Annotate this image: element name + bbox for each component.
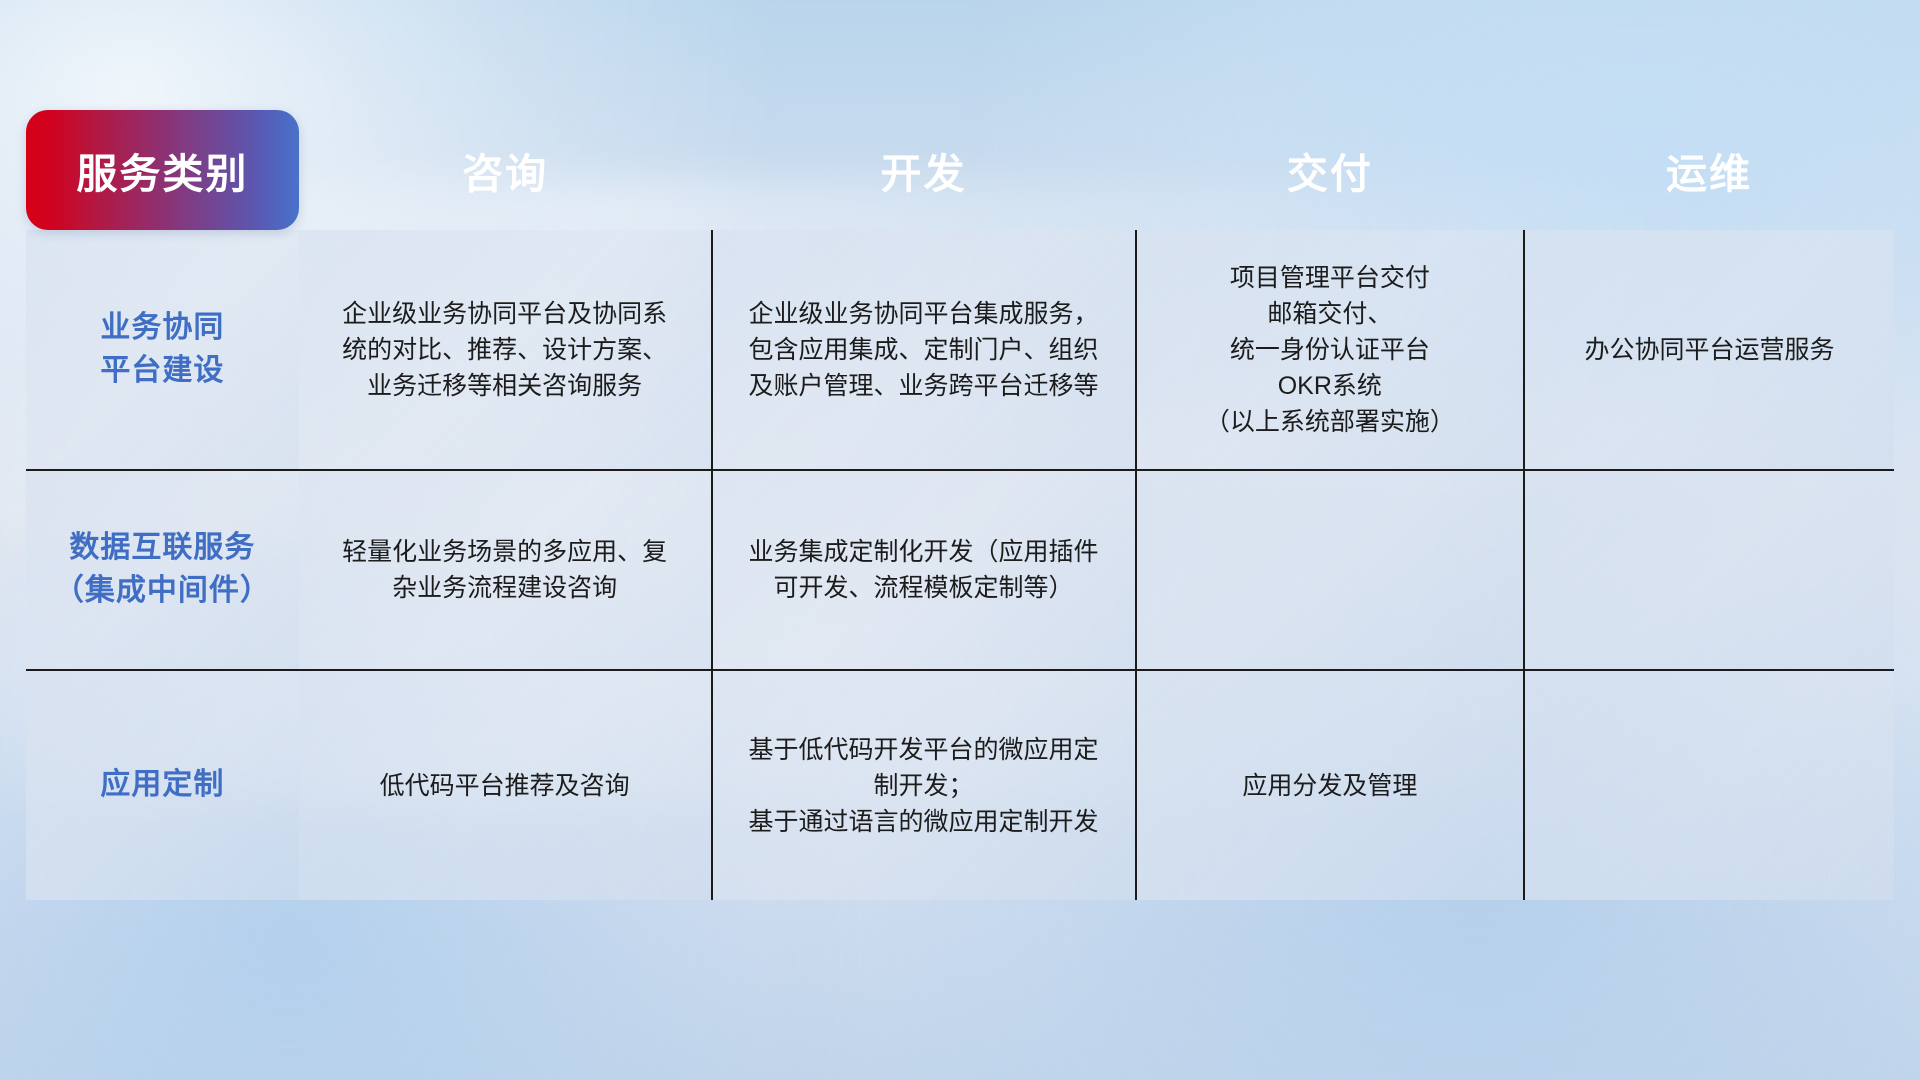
- cell-consulting: 企业级业务协同平台及协同系统的对比、推荐、设计方案、业务迁移等相关咨询服务: [299, 230, 712, 470]
- cell-text-line: 邮箱交付、: [1151, 296, 1510, 332]
- cell-text-line: （集成中间件）: [40, 570, 285, 613]
- cell-text-line: 低代码平台推荐及咨询: [313, 768, 697, 804]
- cell-text-line: 数据互联服务: [40, 527, 285, 570]
- cell-text-line: 应用定制: [40, 764, 285, 807]
- cell-text-line: OKR系统: [1151, 368, 1510, 404]
- cell-text-line: 及账户管理、业务跨平台迁移等: [727, 368, 1121, 404]
- cell-text-line: 轻量化业务场景的多应用、复: [313, 534, 697, 570]
- cell-text-line: 统一身份认证平台: [1151, 332, 1510, 368]
- column-header-category-label: 服务类别: [26, 140, 299, 200]
- column-header-operations-label: 运维: [1524, 140, 1894, 200]
- service-matrix-table: 服务类别 咨询 开发 交付 运维 业务协同平台建设 企业级业务协: [26, 110, 1894, 960]
- cell-text-line: 企业级业务协同平台集成服务，: [727, 296, 1121, 332]
- cell-text-line: 平台建设: [40, 350, 285, 393]
- cell-consulting: 轻量化业务场景的多应用、复杂业务流程建设咨询: [299, 470, 712, 670]
- column-header-category: 服务类别: [26, 110, 299, 230]
- service-table: 服务类别 咨询 开发 交付 运维 业务协同平台建设 企业级业务协: [26, 110, 1894, 900]
- header-row: 服务类别 咨询 开发 交付 运维: [26, 110, 1894, 230]
- row-category-label: 应用定制: [26, 670, 299, 900]
- column-header-operations: 运维: [1524, 110, 1894, 230]
- cell-text-line: 制开发；: [727, 768, 1121, 804]
- cell-consulting: 低代码平台推荐及咨询: [299, 670, 712, 900]
- cell-development: 业务集成定制化开发（应用插件可开发、流程模板定制等）: [712, 470, 1136, 670]
- cell-development: 基于低代码开发平台的微应用定制开发；基于通过语言的微应用定制开发: [712, 670, 1136, 900]
- cell-delivery: 应用分发及管理: [1136, 670, 1525, 900]
- cell-text-line: 包含应用集成、定制门户、组织: [727, 332, 1121, 368]
- table-row: 业务协同平台建设 企业级业务协同平台及协同系统的对比、推荐、设计方案、业务迁移等…: [26, 230, 1894, 470]
- cell-operations: [1524, 470, 1894, 670]
- cell-text-line: 办公协同平台运营服务: [1539, 332, 1880, 368]
- table-header: 服务类别 咨询 开发 交付 运维: [26, 110, 1894, 230]
- cell-text-line: 基于通过语言的微应用定制开发: [727, 804, 1121, 840]
- cell-text-line: 基于低代码开发平台的微应用定: [727, 732, 1121, 768]
- cell-text-line: 应用分发及管理: [1151, 768, 1510, 804]
- table-body: 业务协同平台建设 企业级业务协同平台及协同系统的对比、推荐、设计方案、业务迁移等…: [26, 230, 1894, 900]
- cell-delivery: [1136, 470, 1525, 670]
- column-header-delivery-label: 交付: [1136, 140, 1525, 200]
- row-category-label: 数据互联服务（集成中间件）: [26, 470, 299, 670]
- cell-text-line: 业务迁移等相关咨询服务: [313, 368, 697, 404]
- column-header-consulting: 咨询: [299, 110, 712, 230]
- cell-text-line: 可开发、流程模板定制等）: [727, 570, 1121, 606]
- cell-text-line: 企业级业务协同平台及协同系: [313, 296, 697, 332]
- cell-text-line: 统的对比、推荐、设计方案、: [313, 332, 697, 368]
- column-header-consulting-label: 咨询: [299, 140, 712, 200]
- cell-development: 企业级业务协同平台集成服务，包含应用集成、定制门户、组织及账户管理、业务跨平台迁…: [712, 230, 1136, 470]
- table-row: 应用定制 低代码平台推荐及咨询 基于低代码开发平台的微应用定制开发；基于通过语言…: [26, 670, 1894, 900]
- cell-text-line: 业务协同: [40, 307, 285, 350]
- cell-text-line: （以上系统部署实施）: [1151, 404, 1510, 440]
- cell-delivery: 项目管理平台交付邮箱交付、统一身份认证平台OKR系统（以上系统部署实施）: [1136, 230, 1525, 470]
- column-header-development: 开发: [712, 110, 1136, 230]
- cell-text-line: 杂业务流程建设咨询: [313, 570, 697, 606]
- row-category-label: 业务协同平台建设: [26, 230, 299, 470]
- table-row: 数据互联服务（集成中间件） 轻量化业务场景的多应用、复杂业务流程建设咨询 业务集…: [26, 470, 1894, 670]
- cell-operations: [1524, 670, 1894, 900]
- cell-operations: 办公协同平台运营服务: [1524, 230, 1894, 470]
- column-header-delivery: 交付: [1136, 110, 1525, 230]
- cell-text-line: 项目管理平台交付: [1151, 260, 1510, 296]
- column-header-development-label: 开发: [712, 140, 1136, 200]
- cell-text-line: 业务集成定制化开发（应用插件: [727, 534, 1121, 570]
